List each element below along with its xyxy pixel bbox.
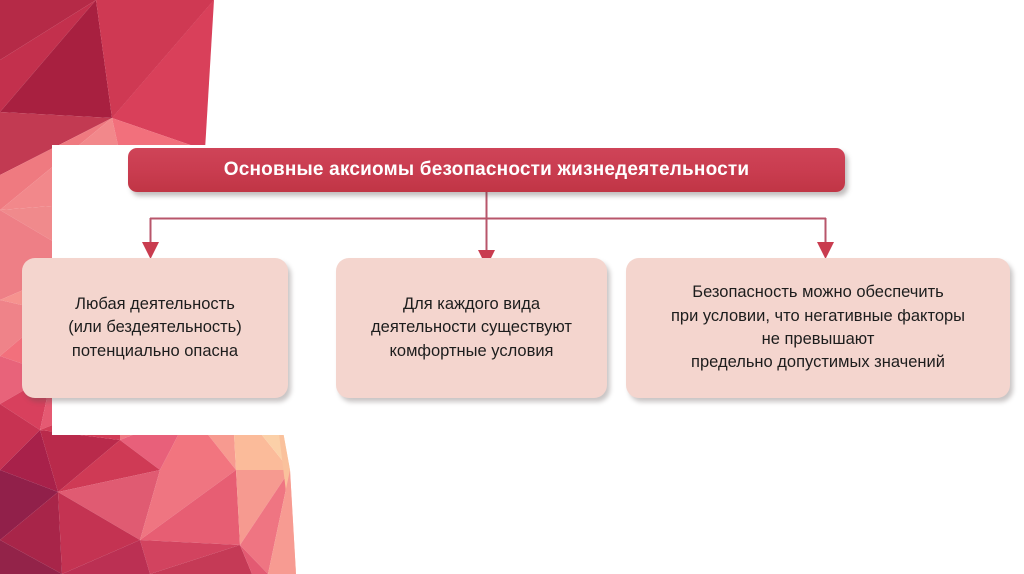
axiom-box-2: Для каждого вида деятельности существуют… <box>336 258 607 398</box>
arrowhead-left <box>142 242 159 259</box>
axiom-box-1-text: Любая деятельность (или бездеятельность)… <box>68 293 242 363</box>
axiom-box-3-text: Безопасность можно обеспечить при услови… <box>671 281 965 375</box>
axiom-box-2-text: Для каждого вида деятельности существуют… <box>371 293 572 363</box>
axiom-box-3: Безопасность можно обеспечить при услови… <box>626 258 1010 398</box>
diagram-title-text: Основные аксиомы безопасности жизнедеяте… <box>224 159 750 181</box>
axiom-box-1: Любая деятельность (или бездеятельность)… <box>22 258 288 398</box>
arrowhead-right <box>817 242 834 259</box>
slide-canvas: Основные аксиомы безопасности жизнедеяте… <box>0 0 1024 574</box>
diagram-title-box: Основные аксиомы безопасности жизнедеяте… <box>128 148 845 192</box>
